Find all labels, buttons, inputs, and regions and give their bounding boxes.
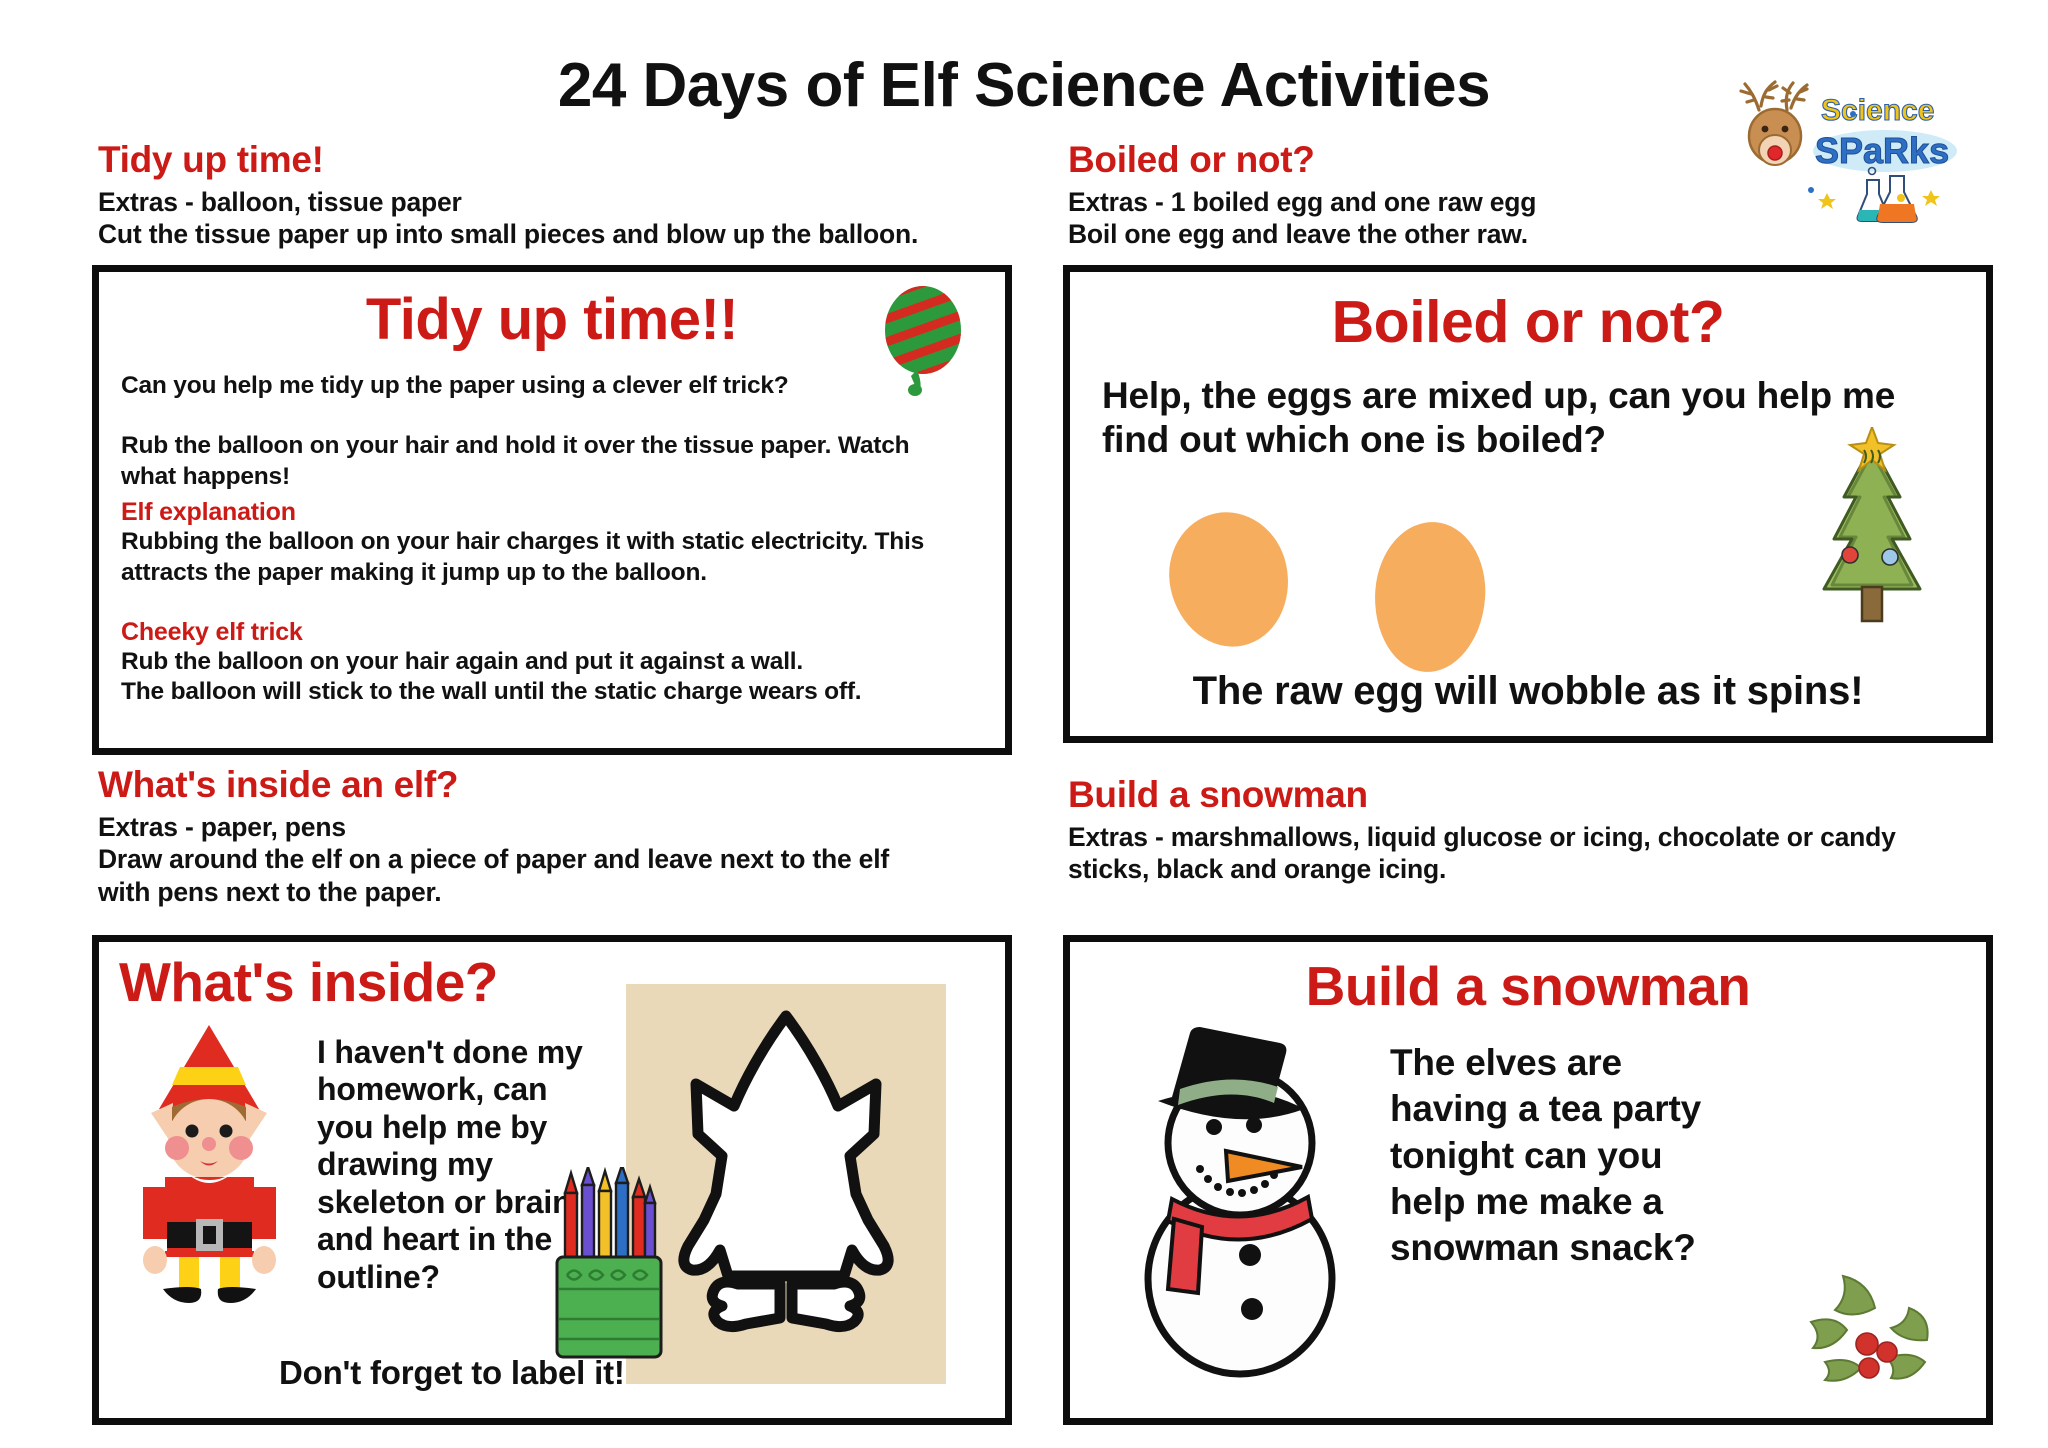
card-snowman-body: The elves are having a tea party tonight…: [1390, 1040, 1840, 1271]
snowman-icon: [1128, 1027, 1358, 1382]
section-heading-snowman: Build a snowman Extras - marshmallows, l…: [1068, 775, 2008, 886]
elf-character-icon: [117, 1017, 302, 1312]
card-tidy-step-2: what happens!: [99, 462, 1005, 492]
card-tidy-trick-heading: Cheeky elf trick: [99, 618, 1005, 647]
section-heading-boiled: Boiled or not? Extras - 1 boiled egg and…: [1068, 140, 2008, 251]
card-title-boiled: Boiled or not?: [1070, 288, 1986, 356]
card-inside-body-1: I haven't done my: [317, 1034, 597, 1071]
section-instruction-boiled: Boil one egg and leave the other raw.: [1068, 218, 2008, 250]
card-snowman-body-2: having a tea party: [1390, 1086, 1840, 1132]
card-tidy-explanation-1: Rubbing the balloon on your hair charges…: [99, 527, 1005, 557]
section-title-tidy: Tidy up time!: [98, 140, 1028, 180]
pen-pot-icon: [549, 1167, 669, 1362]
section-heading-inside: What's inside an elf? Extras - paper, pe…: [98, 765, 1028, 908]
card-snowman-body-4: help me make a: [1390, 1179, 1840, 1225]
poster-page: 24 Days of Elf Science Activities Scienc…: [0, 0, 2048, 1448]
card-build-a-snowman: Build a snowman: [1063, 935, 1993, 1425]
card-tidy-up-time: Tidy up time!! Can you help me tidy up t…: [92, 265, 1012, 755]
card-tidy-question: Can you help me tidy up the paper using …: [99, 371, 1005, 401]
section-title-snowman: Build a snowman: [1068, 775, 2008, 815]
striped-balloon-icon: [871, 280, 979, 398]
card-boiled-answer: The raw egg will wobble as it spins!: [1070, 669, 1986, 714]
section-extras-snowman-1: Extras - marshmallows, liquid glucose or…: [1068, 821, 2008, 853]
section-instruction-inside-2: with pens next to the paper.: [98, 876, 1028, 908]
holly-icon: [1791, 1270, 1956, 1390]
elf-outline-icon: [626, 984, 946, 1384]
card-tidy-trick-1: Rub the balloon on your hair again and p…: [99, 647, 1005, 677]
section-heading-tidy: Tidy up time! Extras - balloon, tissue p…: [98, 140, 1028, 251]
card-snowman-body-5: snowman snack?: [1390, 1225, 1840, 1271]
card-tidy-explanation-2: attracts the paper making it jump up to …: [99, 558, 1005, 588]
card-boiled-prompt-1: Help, the eggs are mixed up, can you hel…: [1070, 374, 1986, 418]
section-extras-inside: Extras - paper, pens: [98, 811, 1028, 843]
card-tidy-step-1: Rub the balloon on your hair and hold it…: [99, 431, 1005, 461]
card-tidy-explanation-heading: Elf explanation: [99, 498, 1005, 527]
section-extras-snowman-2: sticks, black and orange icing.: [1068, 853, 2008, 885]
card-snowman-body-1: The elves are: [1390, 1040, 1840, 1086]
logo-text-science: Science: [1821, 94, 1934, 127]
egg-icon-1: [1157, 501, 1300, 658]
card-inside-body-2: homework, can: [317, 1071, 597, 1108]
section-instruction-tidy: Cut the tissue paper up into small piece…: [98, 218, 1028, 250]
card-inside-body-3: you help me by: [317, 1109, 597, 1146]
section-extras-boiled: Extras - 1 boiled egg and one raw egg: [1068, 186, 2008, 218]
card-snowman-body-3: tonight can you: [1390, 1133, 1840, 1179]
card-boiled-or-not: Boiled or not? Help, the eggs are mixed …: [1063, 265, 1993, 743]
card-tidy-trick-2: The balloon will stick to the wall until…: [99, 677, 1005, 707]
section-instruction-inside-1: Draw around the elf on a piece of paper …: [98, 843, 1028, 875]
section-extras-tidy: Extras - balloon, tissue paper: [98, 186, 1028, 218]
card-title-snowman: Build a snowman: [1070, 954, 1986, 1018]
section-title-inside: What's inside an elf?: [98, 765, 1028, 805]
card-title-tidy: Tidy up time!!: [99, 286, 1005, 353]
card-whats-inside: What's inside?: [92, 935, 1012, 1425]
section-title-boiled: Boiled or not?: [1068, 140, 2008, 180]
egg-icon-2: [1370, 518, 1490, 675]
christmas-tree-icon: [1792, 427, 1952, 637]
